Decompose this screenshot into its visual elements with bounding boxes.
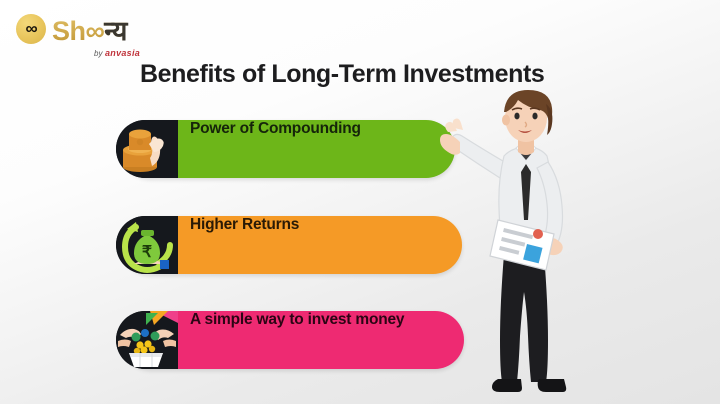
rupee-money-bag-return-icon: ₹ [116,216,178,274]
logo-infinity-badge-icon: ∞ [16,14,46,44]
logo-byline-brand: anvasia [105,48,140,58]
logo-wordmark: Sh∞न्य [52,11,127,48]
stacked-coins-icon [116,120,178,178]
logo-wordmark-latin: Sh [52,16,86,46]
logo-wordmark-infinity-icon: ∞ [86,16,105,46]
businessman-presenting-illustration [438,86,653,404]
hands-dropping-coins-in-box-icon [116,311,178,369]
benefit-label-power-of-compounding: Power of Compounding [190,120,361,138]
svg-text:₹: ₹ [142,244,152,261]
logo-wordmark-devanagari: न्य [104,16,127,46]
brand-logo[interactable]: ∞ Sh∞न्य by anvasia [16,11,196,63]
logo-byline: by anvasia [94,48,140,58]
infinity-icon: ∞ [25,20,36,37]
benefit-label-higher-returns: Higher Returns [190,216,299,234]
page-title: Benefits of Long-Term Investments [140,60,610,89]
logo-byline-prefix: by [94,49,102,58]
slide-canvas: ∞ Sh∞न्य by anvasia Benefits of Long-Ter… [0,0,720,404]
benefit-label-simple-way-to-invest: A simple way to invest money [190,311,404,329]
